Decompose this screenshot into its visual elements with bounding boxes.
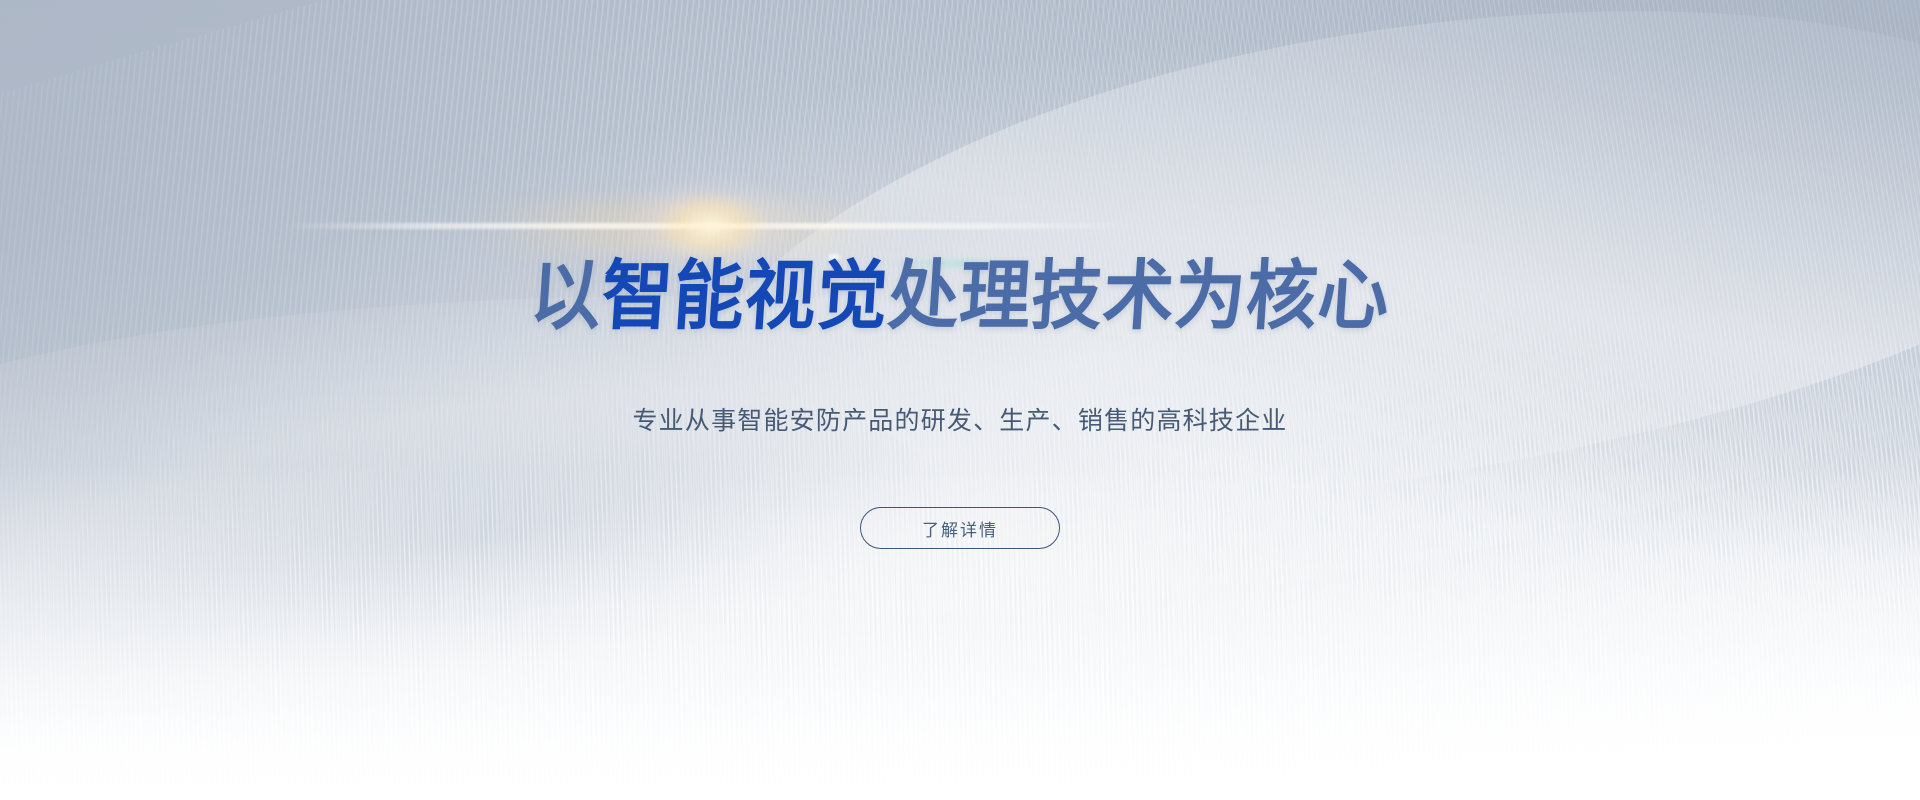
hero-content: 以智能视觉处理技术为核心 专业从事智能安防产品的研发、生产、销售的高科技企业 了… (0, 0, 1920, 800)
hero-subtitle: 专业从事智能安防产品的研发、生产、销售的高科技企业 (0, 406, 1920, 436)
headline-segment-suffix: 处理技术为核心 (886, 251, 1393, 340)
learn-more-button-label: 了解详情 (922, 516, 998, 541)
headline-segment-accent: 智能视觉 (599, 251, 891, 340)
learn-more-button[interactable]: 了解详情 (860, 507, 1060, 549)
hero-headline: 以智能视觉处理技术为核心 (65, 258, 1856, 334)
hero-banner: 以智能视觉处理技术为核心 专业从事智能安防产品的研发、生产、销售的高科技企业 了… (0, 0, 1920, 800)
headline-segment-prefix: 以 (527, 251, 604, 340)
